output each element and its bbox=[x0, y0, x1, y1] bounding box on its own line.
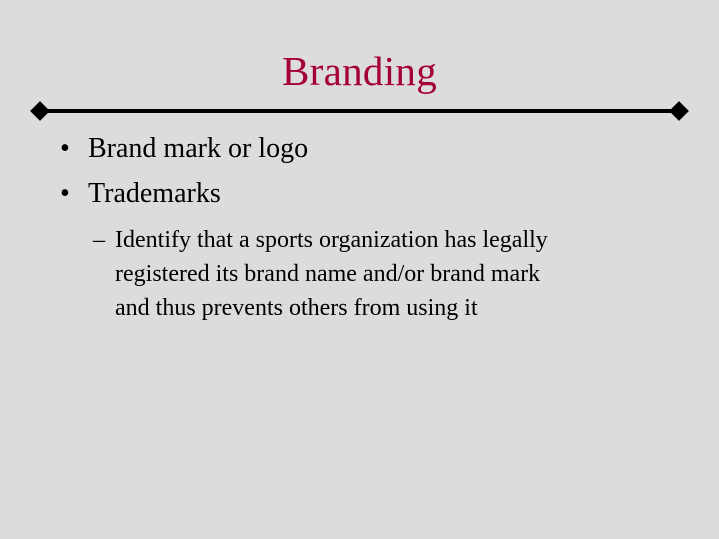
slide-title: Branding bbox=[0, 48, 719, 94]
bullet-item-trademarks: • Trademarks bbox=[0, 171, 719, 216]
bullet-item-brand-mark: • Brand mark or logo bbox=[0, 126, 719, 171]
divider-line bbox=[40, 109, 679, 113]
sub-bullet-line: registered its brand name and/or brand m… bbox=[115, 257, 639, 291]
bullet-label: Trademarks bbox=[88, 178, 221, 209]
bullet-point-icon: • bbox=[60, 126, 70, 171]
sub-bullet-line: Identify that a sports organization has … bbox=[115, 223, 639, 257]
bullet-label: Brand mark or logo bbox=[88, 133, 308, 164]
dash-bullet-icon: – bbox=[93, 223, 105, 257]
sub-bullet-line: and thus prevents others from using it bbox=[115, 291, 639, 325]
title-divider-rule bbox=[33, 103, 686, 119]
sub-bullet-item-trademark-definition: – Identify that a sports organization ha… bbox=[0, 223, 719, 325]
bullet-point-icon: • bbox=[60, 171, 70, 216]
diamond-icon-right bbox=[669, 101, 689, 121]
presentation-slide: Branding • Brand mark or logo • Trademar… bbox=[0, 0, 719, 539]
slide-body-content: • Brand mark or logo • Trademarks – Iden… bbox=[0, 126, 719, 325]
